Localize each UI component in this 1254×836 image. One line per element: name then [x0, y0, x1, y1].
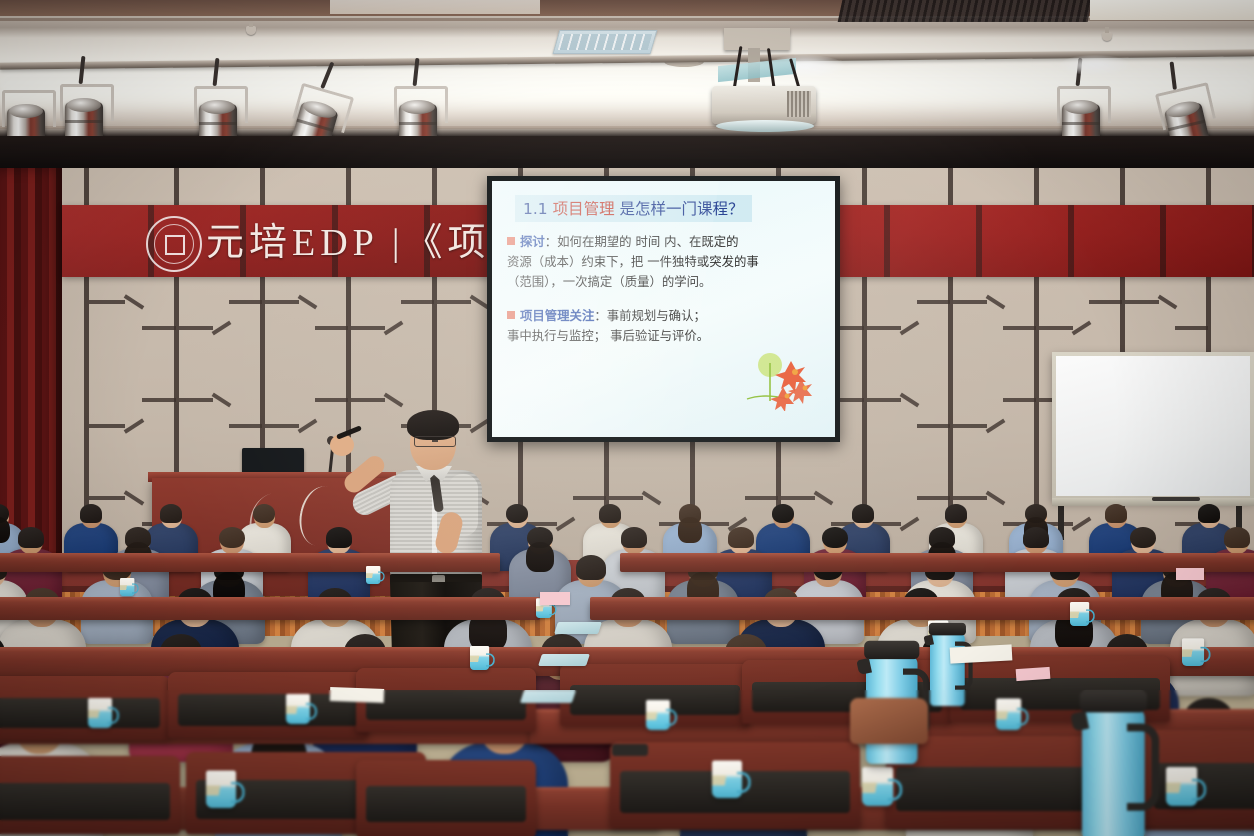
thermos-flask	[1082, 708, 1145, 836]
desk-top-edge	[590, 597, 1254, 602]
desk-tablet	[520, 690, 576, 703]
wall-zigzag-line	[265, 424, 299, 428]
paper-cup	[366, 566, 380, 584]
wall-zigzag-line	[351, 326, 385, 330]
paper-cup	[1070, 602, 1089, 626]
audience-member-hair	[18, 527, 43, 549]
slide-title-rest: 是怎样一门课程？	[620, 200, 744, 218]
cup-pattern	[712, 776, 742, 786]
desk-top-edge	[0, 597, 540, 602]
desk-top-edge	[0, 647, 580, 652]
wall-zigzag-line	[437, 300, 471, 304]
audience-member-long-hair	[526, 542, 554, 572]
podium-confidence-monitor	[242, 448, 304, 474]
sprinkler-head	[246, 26, 256, 35]
whiteboard-marker	[1152, 497, 1200, 501]
audience-member-hair	[822, 527, 847, 549]
wall-zigzag-line	[1175, 326, 1207, 330]
desk-top-edge	[0, 553, 500, 558]
wall-zigzag-line	[609, 496, 643, 500]
cup-pattern	[1070, 612, 1089, 618]
thermos-cap	[864, 641, 919, 659]
pink-handout	[1176, 568, 1204, 580]
audience-member-hair	[506, 504, 528, 523]
eyeglasses	[414, 436, 456, 447]
thermos-cap	[929, 623, 966, 635]
audience-member-hair	[253, 504, 275, 523]
wall-zigzag-line	[1089, 300, 1121, 304]
leather-bag	[850, 698, 928, 744]
slide-bullet-2: 项目管理关注：事前规划与确认； 事中执行与监控； 事后验证与评价。	[507, 306, 820, 346]
audience-member-hair	[80, 504, 102, 523]
bullet-square-icon-2	[507, 311, 515, 319]
slide-title-highlight: 1.1 项目管理 是怎样一门课程？	[515, 195, 752, 222]
paper-cup	[1166, 767, 1197, 806]
projector-mount-plate	[724, 28, 790, 50]
wall-zigzag-line	[315, 326, 347, 330]
cup-pattern	[646, 712, 670, 720]
desk-tablet	[554, 622, 602, 634]
audience-member-hair	[160, 504, 182, 523]
flower-clipart-icon	[743, 349, 819, 411]
audience-member-hair	[621, 527, 646, 549]
audience-member-hair	[1105, 504, 1127, 523]
wall-zigzag-line	[745, 496, 777, 500]
notebook-paper	[950, 644, 1013, 663]
pink-handout	[1016, 667, 1051, 681]
audience-member-hair	[728, 527, 753, 549]
desk-top-edge	[620, 553, 1254, 558]
wall-zigzag-line	[89, 300, 125, 304]
thermos-handle	[1127, 724, 1159, 811]
audience-member-hair	[1023, 527, 1048, 549]
audience-desk	[590, 600, 1254, 620]
audience-member-hair	[326, 527, 351, 549]
air-diffuser-vent	[553, 30, 658, 54]
slide-title-number: 1.1	[523, 200, 548, 218]
thermos-cap	[1080, 690, 1147, 712]
wall-zigzag-line	[917, 300, 949, 304]
cup-pattern	[120, 585, 134, 590]
yuanpei-seal-logo	[146, 216, 202, 272]
bullet-1-line-2: 资源（成本）约束下，把 一件独特或突发的事	[507, 254, 759, 269]
projection-screen-frame: 1.1 项目管理 是怎样一门课程？ 探讨：如何在期望的 时间 内、在既定的 资源…	[487, 176, 840, 442]
cup-pattern	[88, 710, 112, 718]
paper-cup	[996, 699, 1021, 731]
slide-title-keyword: 项目管理	[553, 200, 615, 218]
audience-seat-cushion	[366, 690, 526, 721]
slide-bullet-1: 探讨：如何在期望的 时间 内、在既定的 资源（成本）约束下，把 一件独特或突发的…	[507, 232, 820, 292]
wall-zigzag-line	[1125, 300, 1159, 304]
audience-desk	[0, 556, 500, 572]
wall-zigzag-line	[142, 326, 176, 330]
audience-member-hair	[219, 527, 244, 549]
wall-zigzag-line	[953, 300, 987, 304]
audience-member-hair	[599, 504, 621, 523]
bullet-1-label: 探讨	[520, 234, 545, 249]
cup-pattern	[470, 656, 489, 662]
lecture-hall-photo: 元培EDP |《项目管理之道》课堂 1.1 项目管理 是怎样一门课程？ 探讨：如…	[0, 0, 1254, 836]
audience-member-hair	[1130, 527, 1155, 549]
wall-zigzag-line	[1039, 326, 1073, 330]
wall-zigzag-line	[1003, 398, 1035, 402]
thermos-spout	[856, 658, 872, 675]
paper-cup	[862, 767, 893, 806]
wall-zigzag-line	[229, 424, 261, 428]
ceiling-light-panel	[1090, 0, 1254, 20]
ceiling-downlight-glow-2	[1060, 55, 1130, 75]
smartphone	[612, 744, 648, 756]
paper-cup	[470, 646, 489, 670]
wall-zigzag-line	[867, 326, 901, 330]
wall-zigzag-line	[229, 300, 261, 304]
wall-zigzag-line	[917, 496, 949, 500]
wall-zigzag-line	[867, 398, 901, 402]
wall-zigzag-line	[351, 398, 385, 402]
cup-pattern	[286, 706, 310, 714]
audience-member-hair	[852, 504, 874, 523]
paper-cup	[646, 700, 670, 730]
wall-zigzag-line	[953, 424, 987, 428]
audience-seat-cushion	[366, 786, 526, 822]
ceiling-light-panel-2	[330, 0, 540, 14]
pink-handout	[540, 592, 570, 605]
cup-pattern	[996, 711, 1021, 719]
paper-cup	[88, 698, 112, 728]
audience-member-hair	[945, 504, 967, 523]
bullet-2-line-1: ：事前规划与确认；	[594, 308, 706, 323]
cup-pattern	[536, 606, 552, 611]
desk-tablet	[538, 654, 590, 666]
bullet-1-line-3: （范围），一次搞定（质量）的学问。	[507, 274, 711, 289]
ceiling-grille-panel	[838, 0, 1093, 22]
paper-cup	[120, 578, 134, 596]
wall-zigzag-line	[781, 496, 815, 500]
thermos-flask	[930, 633, 965, 706]
bullet-square-icon	[507, 237, 515, 245]
whiteboard	[1052, 352, 1254, 500]
audience-member-hair	[576, 555, 605, 580]
audience-seat-cushion	[0, 698, 160, 729]
audience-desk	[620, 556, 1254, 572]
wall-zigzag-line	[89, 496, 125, 500]
audience-desk	[0, 600, 540, 620]
cup-pattern	[206, 786, 236, 796]
cup-pattern	[366, 573, 380, 578]
wall-zigzag-line	[953, 496, 987, 500]
ceiling-projector	[712, 86, 816, 124]
wall-zigzag-line	[573, 496, 605, 500]
paper-cup	[286, 694, 310, 724]
audience-member-hair	[1224, 527, 1249, 549]
presentation-slide: 1.1 项目管理 是怎样一门课程？ 探讨：如何在期望的 时间 内、在既定的 资源…	[492, 181, 835, 346]
slide-title: 1.1 项目管理 是怎样一门课程？	[523, 200, 744, 218]
sprinkler-head-2	[1102, 32, 1112, 41]
wall-zigzag-line	[179, 398, 213, 402]
wall-zigzag-line	[89, 424, 125, 428]
whiteboard-surface	[1056, 356, 1250, 496]
cup-pattern	[1166, 783, 1197, 793]
thermos-spout	[923, 635, 934, 647]
wall-zigzag-line	[401, 300, 433, 304]
paper-cup	[206, 771, 236, 809]
wall-zigzag-line	[142, 398, 176, 402]
bullet-2-line-2: 事中执行与监控； 事后验证与评价。	[507, 328, 709, 343]
wall-zigzag-line	[265, 300, 299, 304]
notebook-paper	[330, 687, 384, 703]
audience-member-hair	[1198, 504, 1220, 523]
cup-pattern	[862, 783, 893, 793]
audience-member-long-hair	[678, 517, 702, 543]
wall-zigzag-line	[315, 398, 347, 402]
wall-zigzag-line	[917, 424, 949, 428]
audience-member-hair	[772, 504, 794, 523]
paper-cup	[712, 761, 742, 799]
audience-seat-cushion	[0, 783, 170, 820]
cup-pattern	[1182, 649, 1204, 656]
wall-zigzag-line	[179, 326, 213, 330]
wall-zigzag-line	[1003, 326, 1035, 330]
bullet-2-label: 项目管理关注	[520, 308, 594, 323]
paper-cup	[1182, 638, 1204, 666]
projection-screen: 1.1 项目管理 是怎样一门课程？ 探讨：如何在期望的 时间 内、在既定的 资源…	[492, 181, 835, 437]
bullet-1-line-1: ：如何在期望的 时间 内、在既定的	[545, 234, 739, 249]
projector-lens	[716, 120, 814, 132]
